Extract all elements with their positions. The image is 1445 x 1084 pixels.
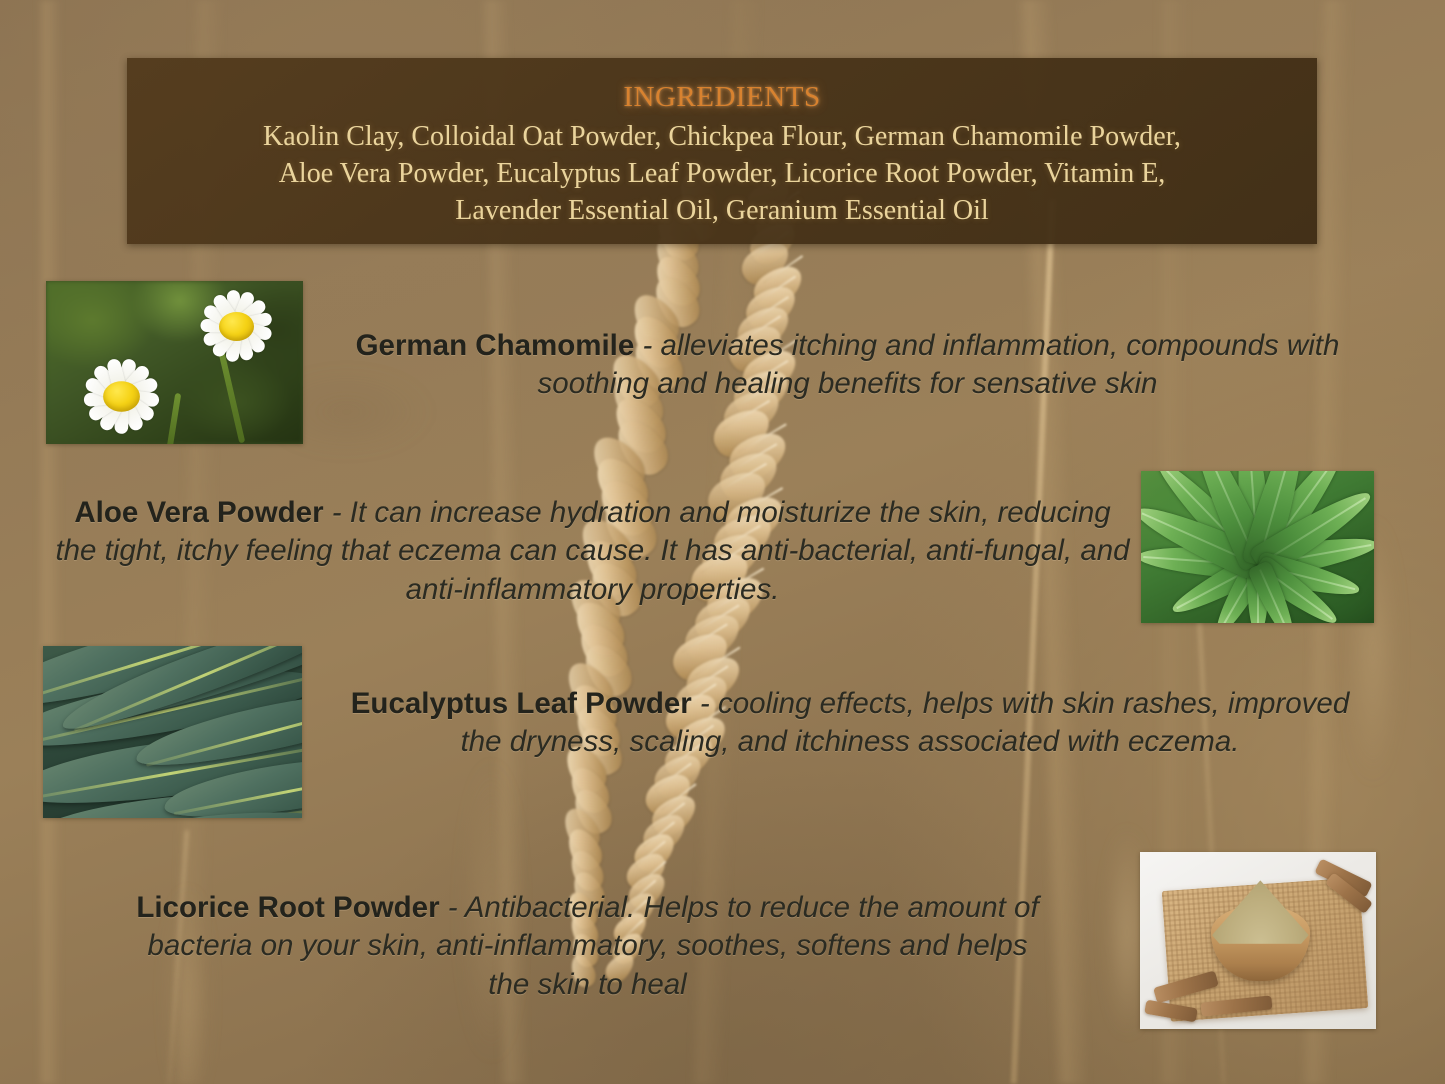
wheat-awn (661, 784, 697, 812)
ingredients-slide: INGREDIENTS Kaolin Clay, Colloidal Oat P… (0, 0, 1445, 1084)
wheat-floret (706, 399, 777, 464)
wheat-floret (646, 788, 703, 843)
wheat-floret (562, 824, 608, 876)
entry-text-eucalyptus-leaf-powder: Eucalyptus Leaf Powder - cooling effects… (340, 685, 1360, 762)
entry-separator-0: - (634, 329, 660, 362)
german-chamomile-photo (46, 281, 303, 444)
wheat-floret (571, 615, 636, 684)
entry-name-german-chamomile: German Chamomile (356, 329, 635, 362)
entry-name-eucalyptus-leaf-powder: Eucalyptus Leaf Powder (351, 687, 692, 720)
wheat-floret (677, 605, 747, 670)
wheat-awn (654, 762, 692, 790)
entry-separator-3: - (440, 891, 465, 924)
wheat-floret (666, 624, 735, 688)
wheat-floret (639, 765, 698, 821)
entry-text-german-chamomile: German Chamomile - alleviates itching an… (330, 327, 1365, 404)
wheat-awn (635, 840, 666, 866)
entry-separator-1: - (324, 496, 350, 529)
wheat-floret (565, 846, 609, 896)
wheat-awn (643, 821, 676, 848)
wheat-awn (746, 296, 789, 325)
wheat-awn (682, 623, 729, 653)
daisy-center (219, 312, 254, 341)
wheat-awn (717, 463, 767, 493)
wheat-awn (722, 399, 770, 429)
wheat-floret (584, 427, 654, 500)
ingredients-panel: INGREDIENTS Kaolin Clay, Colloidal Oat P… (127, 58, 1317, 244)
entry-name-licorice-root-powder: Licorice Root Powder (136, 891, 439, 924)
wheat-awn (738, 424, 787, 454)
wheat-awn (754, 275, 796, 304)
ingredients-line-2: Aloe Vera Powder, Eucalyptus Leaf Powder… (127, 155, 1317, 192)
ingredients-title: INGREDIENTS (127, 82, 1317, 114)
daisy-center (103, 381, 140, 411)
wheat-awn (728, 443, 778, 473)
wheat-floret (647, 269, 708, 334)
wheat-floret (628, 826, 681, 878)
wheat-awn (692, 605, 740, 635)
wheat-awn (637, 861, 666, 886)
wheat-floret (722, 423, 794, 489)
entry-separator-2: - (692, 687, 718, 720)
wheat-floret (557, 802, 605, 856)
ingredients-line-3: Lavender Essential Oil, Geranium Essenti… (127, 192, 1317, 229)
wheat-awn (695, 646, 741, 676)
eucalyptus-leaf-photo (43, 646, 302, 818)
wheat-awn (651, 802, 685, 829)
wheat-floret (647, 248, 706, 312)
wheat-floret (567, 783, 618, 839)
wheat-floret (563, 761, 616, 819)
aloe-vera-photo (1141, 471, 1374, 623)
entry-name-aloe-vera-powder: Aloe Vera Powder (74, 496, 323, 529)
wheat-floret (747, 257, 810, 316)
ingredients-line-1: Kaolin Clay, Colloidal Oat Powder, Chick… (127, 118, 1317, 155)
licorice-root-powder-photo (1140, 852, 1376, 1029)
entry-text-licorice-root-powder: Licorice Root Powder - Antibacterial. He… (130, 889, 1045, 1004)
wheat-awn (762, 255, 803, 284)
wheat-floret (608, 410, 677, 482)
entry-text-aloe-vera-powder: Aloe Vera Powder - It can increase hydra… (50, 494, 1135, 609)
wheat-floret (637, 807, 692, 860)
